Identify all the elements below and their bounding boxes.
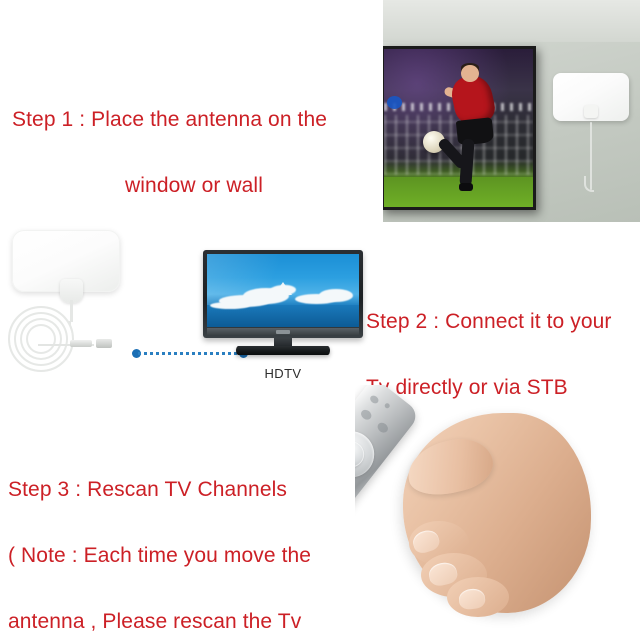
player-shorts: [456, 117, 494, 146]
step-2-line-1: Step 2 : Connect it to your: [366, 305, 638, 338]
tv-screen: [207, 254, 359, 327]
wall-upper-band: [383, 0, 640, 42]
instruction-infographic: Step 1 : Place the antenna on the window…: [0, 0, 640, 640]
screen-cloud: [319, 289, 352, 302]
step-1-line-1: Step 1 : Place the antenna on the: [8, 103, 380, 136]
tv-stand-base: [236, 346, 330, 355]
wall-mounted-television: [383, 46, 536, 210]
step-3-line-1: Step 3 : Rescan TV Channels: [8, 473, 358, 506]
hand: [403, 413, 591, 613]
broadcast-logo-icon: [387, 96, 402, 109]
step-3-instruction: Step 3 : Rescan TV Channels ( Note : Eac…: [8, 440, 358, 640]
step-1-line-2: window or wall: [8, 169, 380, 202]
tv-brand-logo: [276, 330, 290, 334]
hdtv-illustration: [203, 250, 363, 360]
wall-antenna-cable: [590, 122, 592, 190]
tv-bezel: [203, 250, 363, 338]
player-shoe: [459, 183, 474, 191]
coax-connector-barrel: [96, 339, 112, 348]
step-1-instruction: Step 1 : Place the antenna on the window…: [8, 70, 380, 235]
flat-antenna-product-illustration: [6, 228, 196, 368]
coax-connector-plug: [70, 340, 92, 347]
step-3-line-2: ( Note : Each time you move the: [8, 539, 358, 572]
antenna-cable-nub: [584, 105, 598, 118]
wall-mounted-flat-antenna: [553, 73, 629, 121]
wall-mounted-tv-photo: [383, 0, 640, 222]
coiled-coax-cable: [8, 306, 74, 372]
hand-holding-remote-photo: [355, 385, 640, 640]
hdtv-label: HDTV: [203, 366, 363, 381]
screen-cloud: [269, 284, 297, 297]
football-pitch: [384, 177, 533, 207]
antenna-cable-stem: [70, 300, 73, 322]
step-3-line-3: antenna , Please rescan the Tv: [8, 605, 358, 638]
